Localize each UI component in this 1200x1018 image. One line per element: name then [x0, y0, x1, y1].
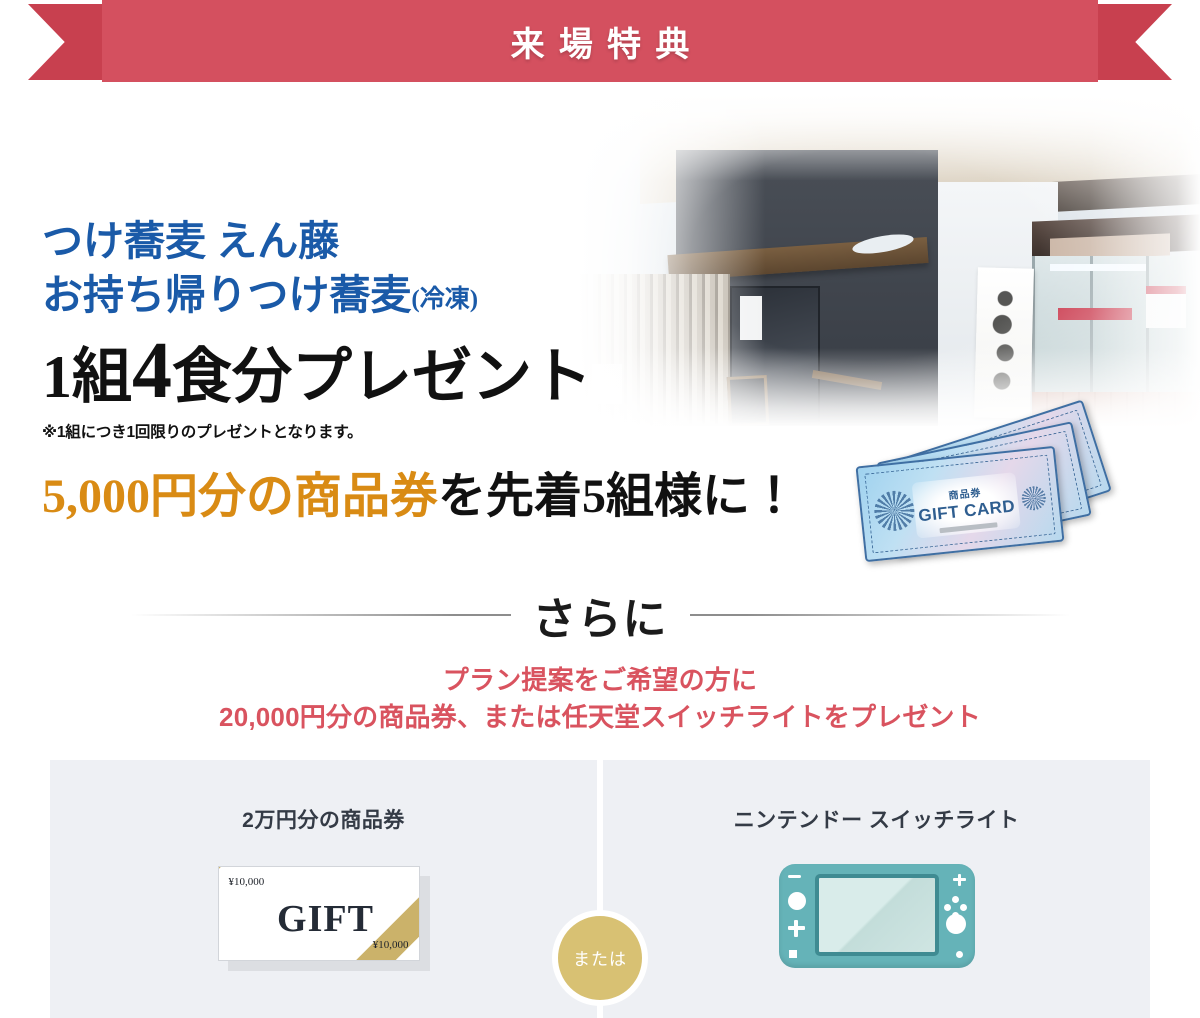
- promo-lead-line1: プラン提案をご希望の方に: [0, 662, 1200, 699]
- capture-button-icon: [789, 950, 797, 958]
- voucher-rest-text: を先着5組様に！: [438, 470, 798, 523]
- home-button-icon: [956, 951, 963, 958]
- ribbon-title: 来場特典: [496, 17, 703, 66]
- prize-panels: 2万円分の商品券 ¥10,000 GIFT ¥10,000 ニンテンドー スイッ…: [0, 760, 1200, 1018]
- hero-section: 商品券 GIFT CARD つけ蕎麦 えん藤 お持ち帰りつけ蕎麦(冷凍) 1組4…: [0, 96, 1200, 656]
- panel-gift-voucher: 2万円分の商品券 ¥10,000 GIFT ¥10,000: [50, 760, 597, 1018]
- face-button-a-icon: [960, 904, 967, 911]
- promo-lead-line2: 20,000円分の商品券、または任天堂スイッチライトをプレゼント: [0, 699, 1200, 736]
- ribbon-body: 来場特典: [102, 0, 1098, 82]
- voucher-headline: 5,000円分の商品券を先着5組様に！: [42, 456, 872, 526]
- divider-rule-left: [131, 614, 511, 616]
- gift-certificate-front: 商品券 GIFT CARD: [856, 446, 1065, 562]
- gift-voucher-illustration: ¥10,000 GIFT ¥10,000: [218, 866, 430, 966]
- offer-prefix: 1組: [42, 344, 132, 410]
- divider-rule-right: [690, 614, 1070, 616]
- or-badge: または: [552, 910, 648, 1006]
- offer-headline: 1組4食分プレゼント: [42, 328, 872, 414]
- panel-switch-lite: ニンテンドー スイッチライト: [603, 760, 1150, 1018]
- switch-screen: [815, 874, 939, 956]
- shop-name-line2: お持ち帰りつけ蕎麦(冷凍): [42, 268, 872, 322]
- offer-suffix: 食分プレゼント: [172, 344, 592, 410]
- voucher-word: GIFT: [219, 897, 419, 941]
- voucher-amount-text: 5,000円分の商品券: [42, 470, 438, 523]
- sarani-divider: さらに: [0, 583, 1200, 647]
- dpad-horizontal-icon: [788, 926, 805, 930]
- promo-lead: プラン提案をご希望の方に 20,000円分の商品券、または任天堂スイッチライトを…: [0, 662, 1200, 736]
- voucher-amount-bottom: ¥10,000: [373, 939, 409, 951]
- left-stick-icon: [788, 892, 806, 910]
- ribbon-banner: 来場特典: [0, 0, 1200, 96]
- face-button-x-icon: [952, 896, 959, 903]
- switch-lite-icon: [779, 864, 975, 968]
- gift-certificate-illustration: 商品券 GIFT CARD: [840, 428, 1140, 588]
- shop-name-line1: つけ蕎麦 えん藤: [42, 214, 872, 268]
- plus-button-horizontal-icon: [953, 878, 966, 881]
- gift-certificate-plate: 商品券 GIFT CARD: [912, 472, 1021, 539]
- offer-note: ※1組につき1回限りのプレゼントとなります。: [42, 420, 872, 442]
- offer-number: 4: [132, 327, 172, 415]
- divider-label: さらに: [511, 583, 690, 647]
- shop-name-line2-main: お持ち帰りつけ蕎麦: [42, 272, 411, 318]
- hero-text-block: つけ蕎麦 えん藤 お持ち帰りつけ蕎麦(冷凍) 1組4食分プレゼント ※1組につき…: [42, 214, 872, 526]
- minus-button-icon: [788, 875, 801, 878]
- gift-voucher-front-card: ¥10,000 GIFT ¥10,000: [218, 866, 420, 961]
- right-stick-icon: [946, 914, 966, 934]
- panel-switch-lite-title: ニンテンドー スイッチライト: [734, 804, 1020, 834]
- voucher-amount-top: ¥10,000: [229, 876, 265, 888]
- shop-name-line2-suffix: (冷凍): [411, 286, 478, 313]
- panel-gift-voucher-title: 2万円分の商品券: [242, 804, 405, 834]
- face-button-y-icon: [944, 904, 951, 911]
